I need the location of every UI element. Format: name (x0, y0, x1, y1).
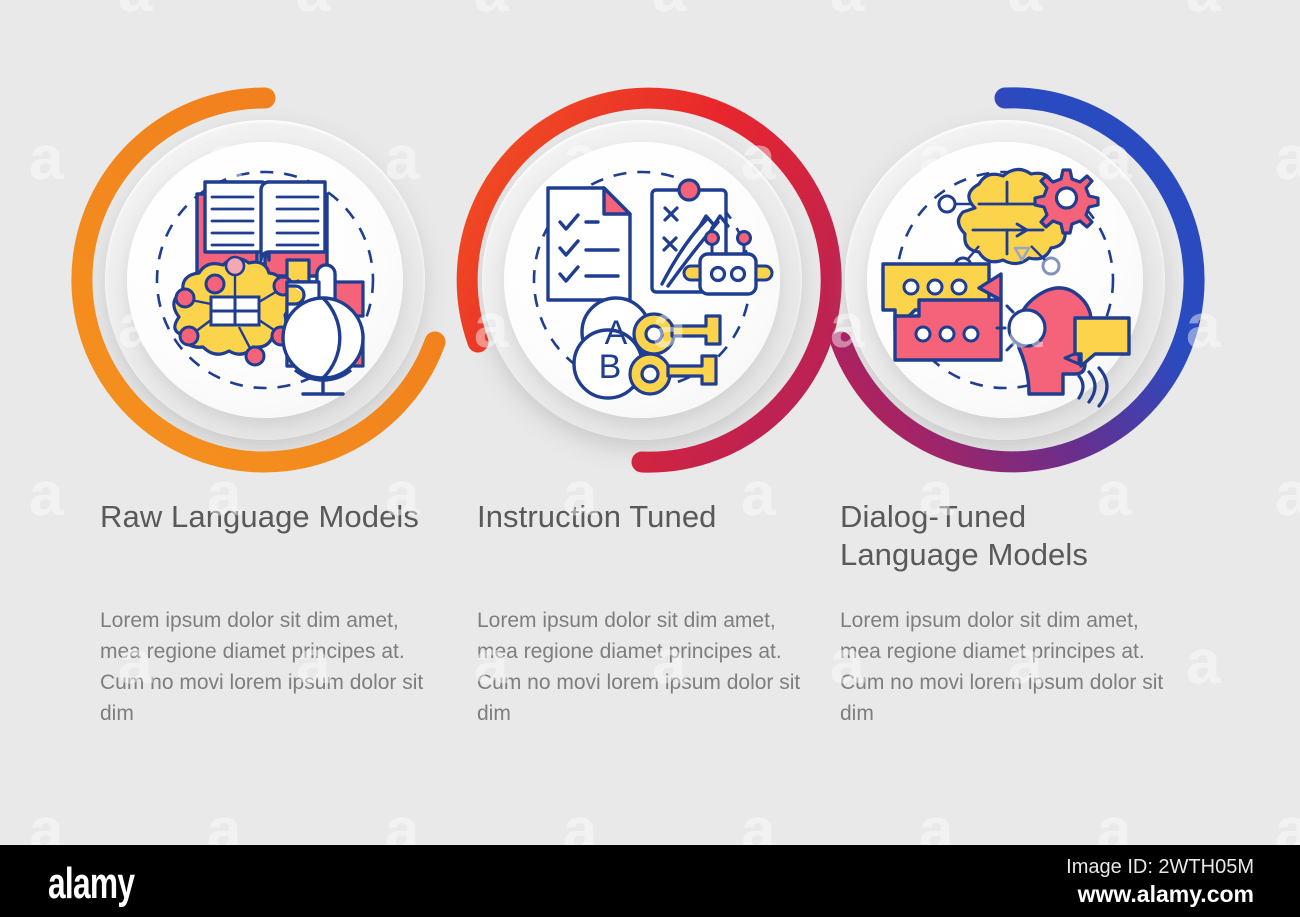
circle-dialog-tuned-language-models (805, 80, 1205, 480)
icon-group-instruction-tuned: A B (504, 142, 780, 418)
brain-network-icon (174, 257, 292, 365)
svg-text:B: B (599, 348, 622, 386)
gear-icon (1035, 170, 1098, 233)
website-label: www.alamy.com (1078, 881, 1254, 908)
svg-text:A: A (605, 314, 628, 352)
checklist-document-icon (548, 188, 630, 300)
page-title-instruction-tuned: Instruction Tuned (477, 498, 807, 536)
columns-container: Raw Language Models Lorem ipsum dolor si… (0, 0, 1300, 845)
key-lower-icon (630, 354, 716, 394)
infographic-stage: aaaaaaaaaaaaaaaaaaaaaaaaaaaaaaaaaaaaaaaa… (0, 0, 1300, 917)
body-text-raw-language-models: Lorem ipsum dolor sit dim amet, mea regi… (100, 605, 430, 729)
circle-raw-language-models (65, 80, 465, 480)
ab-keys-icon: A B (574, 298, 720, 398)
alamy-logo: alamy (48, 859, 134, 909)
puzzle-globe-icon (283, 265, 363, 394)
page-title-raw-language-models: Raw Language Models (100, 498, 430, 536)
circle-instruction-tuned: A B (442, 80, 842, 480)
brain-gear-icon (939, 169, 1098, 274)
column-instruction-tuned: A B Instruct (432, 0, 852, 845)
column-dialog-tuned-language-models: Dialog-Tuned Language Models Lorem ipsum… (795, 0, 1215, 845)
body-text-instruction-tuned: Lorem ipsum dolor sit dim amet, mea regi… (477, 605, 807, 729)
body-text-dialog-tuned-language-models: Lorem ipsum dolor sit dim amet, mea regi… (840, 605, 1170, 729)
image-id-label: Image ID: 2WTH05M (1066, 856, 1254, 879)
alamy-footer-bar: alamy Image ID: 2WTH05M www.alamy.com (0, 845, 1300, 917)
column-raw-language-models: Raw Language Models Lorem ipsum dolor si… (55, 0, 475, 845)
strategy-board-robot-icon (652, 180, 772, 294)
icon-group-raw-language-models (127, 142, 403, 418)
chat-bubbles-icon (883, 264, 1001, 360)
key-upper-icon (634, 314, 720, 354)
icon-group-dialog-tuned-language-models (867, 142, 1143, 418)
page-title-dialog-tuned-language-models: Dialog-Tuned Language Models (840, 498, 1170, 574)
